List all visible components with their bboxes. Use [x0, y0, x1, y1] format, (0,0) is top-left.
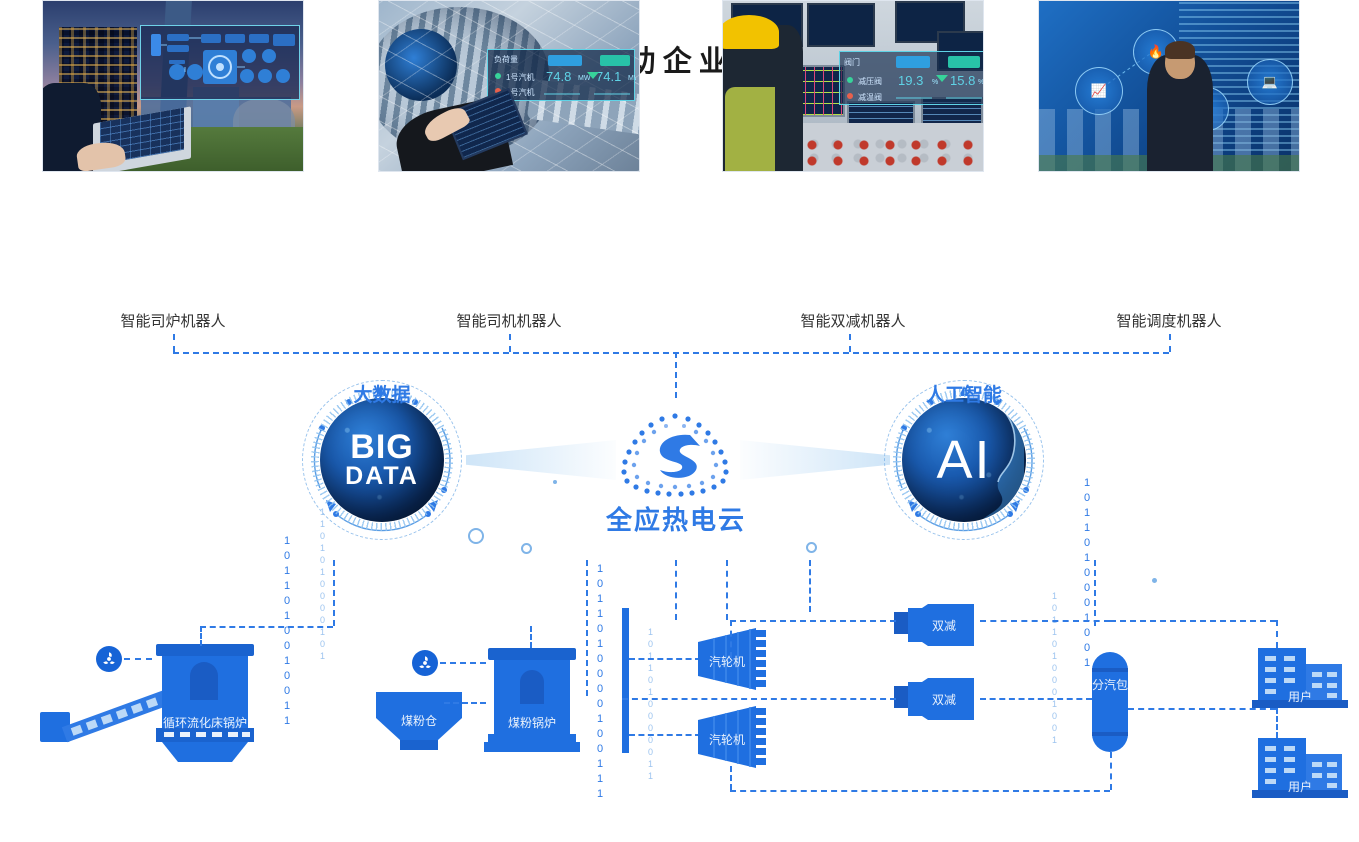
- photo-caption-dispatch-robot: 智能调度机器人: [1038, 310, 1300, 331]
- binary-column-right-faint: 1011010001001: [1052, 590, 1057, 746]
- binary-column-left-faint: 1101010000101: [320, 506, 325, 662]
- cloud-s-logo-icon: [608, 408, 742, 504]
- photo-caption-boiler-robot: 智能司炉机器人: [42, 310, 304, 331]
- ai-sphere-text: AI: [936, 429, 991, 491]
- beam-cloud-to-ai: [740, 440, 890, 480]
- svg-text:MW: MW: [628, 75, 636, 82]
- connector-to-user1-bus: [1110, 620, 1276, 622]
- connector-ai-down-2: [1094, 560, 1096, 626]
- infographic-canvas: 全应热电云帮助企业年年省500万: [0, 0, 1359, 842]
- turbine-1-label: 汽轮机: [698, 653, 756, 670]
- connector-header-turbine2: [629, 734, 701, 736]
- photo-caption-dual-reduce-robot: 智能双减机器人: [722, 310, 984, 331]
- svg-text:15.8: 15.8: [950, 73, 975, 88]
- svg-text:74.8: 74.8: [546, 69, 571, 84]
- user-2-label: 用户: [1252, 778, 1348, 795]
- connector-cfb-up: [200, 626, 202, 646]
- binary-column-right: 1011010001001: [1084, 476, 1090, 671]
- binary-column-left: 1011010010011: [284, 534, 290, 729]
- connector-bigdata-down: [333, 560, 335, 626]
- photo-card-driver-robot[interactable]: 1号汽机 2号汽机 负荷量 74.8 74.1 MW MW: [378, 0, 640, 172]
- svg-text:MW: MW: [578, 75, 591, 82]
- connector-turbine2-bottom-bus: [730, 790, 1110, 792]
- connector-cloud-down: [675, 560, 677, 620]
- svg-text:1号汽机: 1号汽机: [506, 72, 534, 82]
- connector-pcboiler-up: [530, 626, 532, 648]
- connector-ai-down-1: [809, 560, 811, 612]
- connector-fan2-pcboiler: [440, 662, 486, 664]
- connector-bus-to-cloud: [675, 352, 677, 398]
- deco-dot-1: [553, 480, 557, 484]
- user-1-label: 用户: [1252, 688, 1348, 705]
- deco-circle-3: [806, 542, 817, 553]
- photo-image-driver-robot: 1号汽机 2号汽机 负荷量 74.8 74.1 MW MW: [379, 1, 639, 171]
- binary-column-mid-faint: 1011010000011: [648, 626, 653, 782]
- svg-text:74.1: 74.1: [596, 69, 621, 84]
- photo-image-dual-reduce-robot: 阀门 减压阀 减温阀 19.3 % 15.8 %: [723, 1, 983, 171]
- ai-sphere-face: AI: [902, 398, 1026, 522]
- deco-circle-1: [468, 528, 484, 544]
- big-data-line2: DATA: [345, 463, 419, 489]
- connector-bus-reducer2: [622, 698, 896, 700]
- analysis-icon: 📈: [1075, 67, 1123, 115]
- connector-user1-drop: [1276, 620, 1278, 648]
- svg-text:19.3: 19.3: [898, 73, 923, 88]
- svg-text:%: %: [932, 79, 938, 86]
- cfb-boiler-label: 循环流化床锅炉: [150, 714, 260, 731]
- connector-photo4-drop: [1169, 334, 1171, 352]
- big-data-label: 大数据: [302, 380, 462, 407]
- connector-photo3-drop: [849, 334, 851, 352]
- connector-center-down: [586, 560, 588, 696]
- hmi-overlay-3: 阀门 减压阀 减温阀 19.3 % 15.8 %: [839, 51, 984, 105]
- fan-icon-2[interactable]: [412, 650, 438, 676]
- ai-label: 人工智能: [884, 380, 1044, 407]
- connector-photo-bus: [173, 352, 1169, 354]
- connector-user2-drop: [1276, 708, 1278, 738]
- connector-dist-to-user2: [1128, 708, 1276, 710]
- turbine-2-label: 汽轮机: [698, 731, 756, 748]
- reducer-1-label: 双减: [908, 617, 980, 634]
- monitor-icon: 💻: [1247, 59, 1293, 105]
- main-steam-header: [622, 608, 629, 753]
- steam-distributor-label: 分汽包: [1092, 678, 1128, 693]
- photo-card-boiler-robot[interactable]: [42, 0, 304, 172]
- fan-icon-1[interactable]: [96, 646, 122, 672]
- reducer-2-label: 双减: [908, 691, 980, 708]
- big-data-line1: BIG: [350, 431, 413, 464]
- connector-cloud-down-2: [726, 560, 728, 620]
- connector-turbine2-down: [730, 766, 732, 790]
- photo-card-dispatch-robot[interactable]: 📈 🔥 🚨 💻: [1038, 0, 1300, 172]
- svg-text:减压阀: 减压阀: [858, 76, 882, 86]
- svg-text:负荷量: 负荷量: [494, 54, 518, 64]
- beam-bigdata-to-cloud: [466, 440, 616, 480]
- connector-turbine1-up: [730, 620, 732, 658]
- connector-cfb-to-bigdata: [200, 626, 333, 628]
- hmi-overlay-1: [140, 25, 300, 100]
- connector-reducer1-to-top: [980, 620, 1110, 622]
- pc-boiler-label: 煤粉锅炉: [484, 714, 580, 731]
- coal-bunker-label: 煤粉仓: [376, 712, 462, 729]
- photo-image-boiler-robot: [43, 1, 303, 171]
- deco-circle-2: [521, 543, 532, 554]
- photo-caption-driver-robot: 智能司机机器人: [378, 310, 640, 331]
- binary-column-mid: 1011010000100111: [597, 562, 603, 802]
- cfb-boiler[interactable]: [150, 644, 260, 762]
- photo-card-dual-reduce-robot[interactable]: 阀门 减压阀 减温阀 19.3 % 15.8 %: [722, 0, 984, 172]
- connector-header-turbine1: [629, 658, 701, 660]
- connector-bunker-pcboiler: [444, 702, 486, 704]
- svg-text:阀门: 阀门: [844, 57, 860, 67]
- connector-to-reducer1: [730, 620, 896, 622]
- svg-text:%: %: [978, 79, 984, 86]
- deco-dot-2: [1152, 578, 1157, 583]
- photo-image-dispatch-robot: 📈 🔥 🚨 💻: [1039, 1, 1299, 171]
- connector-dist-down: [1110, 752, 1112, 790]
- cloud-logo[interactable]: [608, 408, 742, 504]
- connector-fan1-boiler: [124, 658, 152, 660]
- connector-photo2-drop: [509, 334, 511, 352]
- pc-boiler[interactable]: [484, 648, 580, 754]
- connector-photo1-drop: [173, 334, 175, 352]
- connector-reducer2-to-dist: [980, 698, 1092, 700]
- steam-distributor[interactable]: [1092, 652, 1128, 752]
- svg-text:减温阀: 减温阀: [858, 92, 882, 102]
- cloud-platform-name: 全应热电云: [566, 500, 786, 537]
